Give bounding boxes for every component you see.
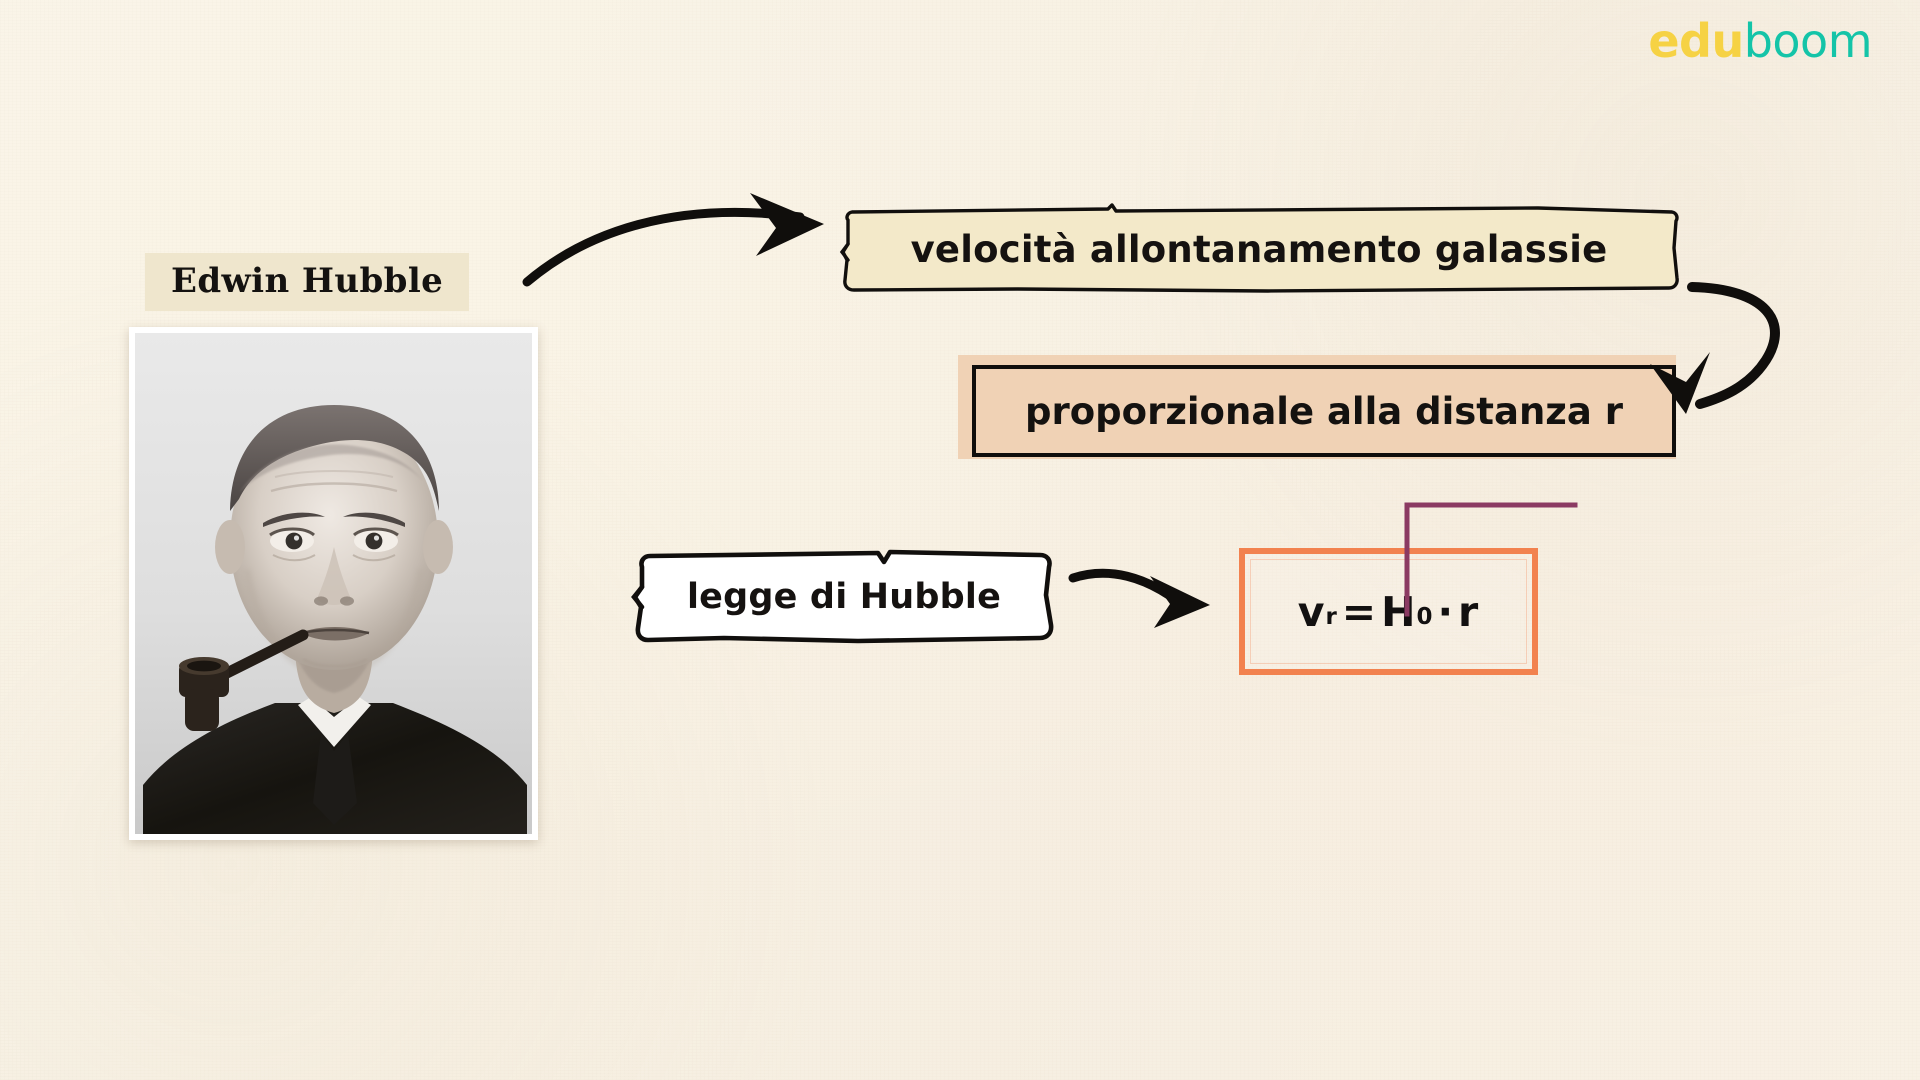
formula-hubble-constant-subscript: 0 (1416, 604, 1433, 630)
callout-velocity: velocità allontanamento galassie (838, 204, 1680, 294)
arrow-law-to-formula (1073, 573, 1210, 628)
formula-hubble-constant-symbol: H (1381, 588, 1416, 636)
formula-box: vr = H0 · r (1239, 548, 1538, 675)
arrow-hubble-to-velocity (527, 193, 824, 282)
logo-boom-text: boom (1744, 14, 1872, 68)
formula-equals: = (1342, 588, 1377, 636)
callout-law-text: legge di Hubble (628, 549, 1060, 645)
callout-proportional: proporzionale alla distanza r (958, 355, 1678, 461)
eduboom-logo: eduboom (1648, 18, 1872, 64)
callout-proportional-text: proporzionale alla distanza r (972, 365, 1676, 457)
logo-edu-text: edu (1648, 14, 1743, 68)
formula-velocity-subscript: r (1325, 604, 1337, 630)
formula-distance-symbol: r (1458, 588, 1479, 636)
callout-law: legge di Hubble (628, 549, 1060, 645)
formula-multiply: · (1437, 588, 1454, 636)
edwin-hubble-portrait-frame (129, 327, 538, 840)
edwin-hubble-label: Edwin Hubble (145, 253, 469, 311)
slide-canvas: eduboom Edwin Hubble (0, 0, 1920, 1080)
edwin-hubble-photo (135, 333, 532, 834)
portrait-illustration (135, 333, 532, 834)
callout-velocity-text: velocità allontanamento galassie (838, 204, 1680, 294)
hubble-law-formula: vr = H0 · r (1245, 554, 1532, 669)
formula-velocity-symbol: v (1298, 588, 1326, 636)
